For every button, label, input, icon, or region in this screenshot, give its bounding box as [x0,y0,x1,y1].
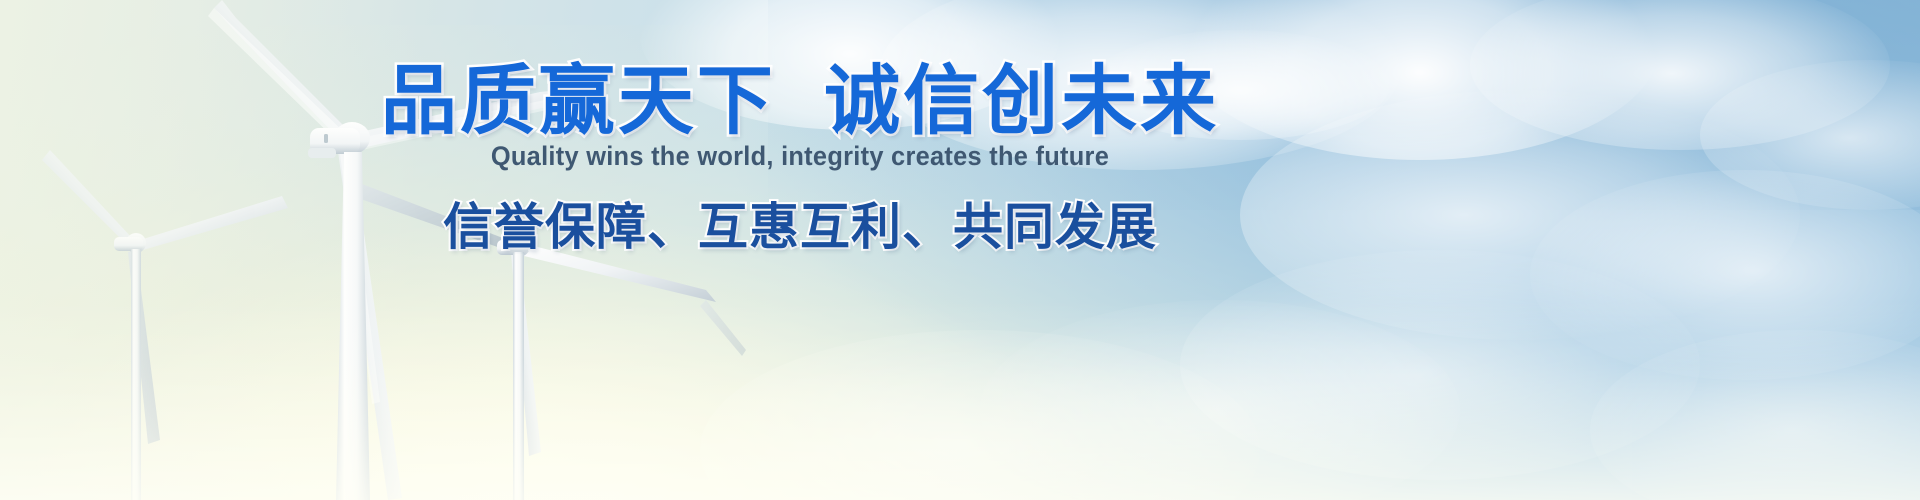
banner-subtitle-english: Quality wins the world, integrity create… [48,140,1552,172]
banner-tagline: 信誉保障、互惠互利、共同发展 [0,198,1600,256]
banner-headline: 品质赢天下 诚信创未来 [0,62,1600,142]
promo-banner: 品质赢天下 诚信创未来 Quality wins the world, inte… [0,0,1920,500]
bottom-haze-overlay [0,300,1920,500]
